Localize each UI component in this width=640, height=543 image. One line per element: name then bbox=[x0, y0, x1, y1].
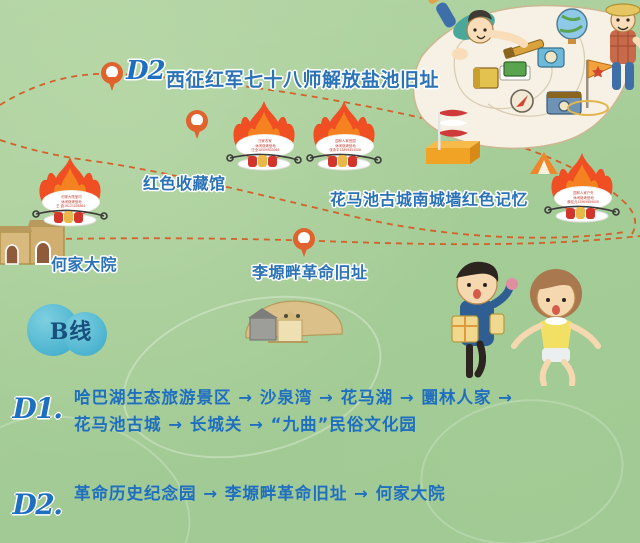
pin-tail bbox=[192, 125, 202, 139]
flame-badge-wangjia[interactable]: 汪家农家 休闲烧烤营地 汪全18309533066 bbox=[222, 100, 306, 174]
map-label-huamachi-wall: 花马池古城南城墙红色记忆 bbox=[330, 186, 528, 210]
girl-kid-illustration bbox=[514, 269, 598, 384]
bbq-skewer-icon bbox=[544, 200, 620, 224]
itinerary-line: 哈巴湖生态旅游景区 → 沙泉湾 → 花马湖 → 圜林人家 → bbox=[74, 376, 622, 411]
itinerary-line: 革命历史纪念园 → 李塬畔革命旧址 → 何家大院 bbox=[74, 472, 622, 507]
bbq-skewer-icon bbox=[32, 204, 108, 228]
itinerary-row-d2: D2. 革命历史纪念园 → 李塬畔革命旧址 → 何家大院 bbox=[0, 472, 640, 521]
flame-badge-hejia[interactable]: 何家大院室内 休闲烧烤营地 王 鑫15121005561 bbox=[28, 156, 112, 230]
itinerary-list: D1. 哈巴湖生态旅游景区 → 沙泉湾 → 花马湖 → 圜林人家 → 花马池古城… bbox=[0, 376, 640, 539]
compass-icon bbox=[511, 90, 533, 112]
bbq-skewer-icon bbox=[226, 148, 302, 172]
itinerary-line: 花马池古城 → 长城关 → “九曲”民俗文化园 bbox=[74, 411, 622, 438]
map-pin-hongse-collection[interactable] bbox=[186, 110, 208, 140]
map-pin-liyuanpan[interactable] bbox=[293, 228, 315, 258]
route-badge-b-line[interactable]: B线 bbox=[27, 304, 115, 356]
pin-tail bbox=[107, 77, 117, 91]
flame-badge-yuanlin-1[interactable]: 园林人家田园 休闲烧烤营地 张永平13895451008 bbox=[302, 100, 386, 174]
route-badge-label: B线 bbox=[27, 304, 115, 356]
book-icon bbox=[474, 68, 498, 88]
itinerary-tag-d1: D1. bbox=[0, 376, 74, 425]
map-label-liyuanpan: 李塬畔革命旧址 bbox=[252, 259, 368, 283]
flame-badge-yuanlin-2[interactable]: 园林人家户外 休闲烧烤营地 薛征元13909559005 bbox=[540, 152, 624, 226]
itinerary-lines-d2: 革命历史纪念园 → 李塬畔革命旧址 → 何家大院 bbox=[74, 472, 640, 507]
map-pin-xizheng[interactable] bbox=[101, 62, 123, 92]
itinerary-lines-d1: 哈巴湖生态旅游景区 → 沙泉湾 → 花马湖 → 圜林人家 → 花马池古城 → 长… bbox=[74, 376, 640, 438]
red-white-flag bbox=[408, 104, 486, 166]
boy-kid-illustration bbox=[428, 252, 618, 386]
notebook-icon bbox=[500, 62, 530, 80]
map-label-hongse-collection: 红色收藏馆 bbox=[143, 170, 226, 194]
bbq-skewer-icon bbox=[306, 148, 382, 172]
map-label-hejia-courtyard: 何家大院 bbox=[51, 251, 117, 275]
liyuanpan-cave-illustration bbox=[238, 290, 350, 352]
camera-icon bbox=[538, 48, 564, 67]
itinerary-tag-d2: D2. bbox=[0, 472, 74, 521]
pin-tail bbox=[299, 243, 309, 257]
poster-canvas: 何家大院室内 休闲烧烤营地 王 鑫15121005561 汪家农家 休闲烧烤营地… bbox=[0, 0, 640, 543]
itinerary-row-d1: D1. 哈巴湖生态旅游景区 → 沙泉湾 → 花马湖 → 圜林人家 → 花马池古城… bbox=[0, 376, 640, 438]
map-label-xizheng: 西征红军七十八师解放盐池旧址 bbox=[166, 65, 439, 92]
